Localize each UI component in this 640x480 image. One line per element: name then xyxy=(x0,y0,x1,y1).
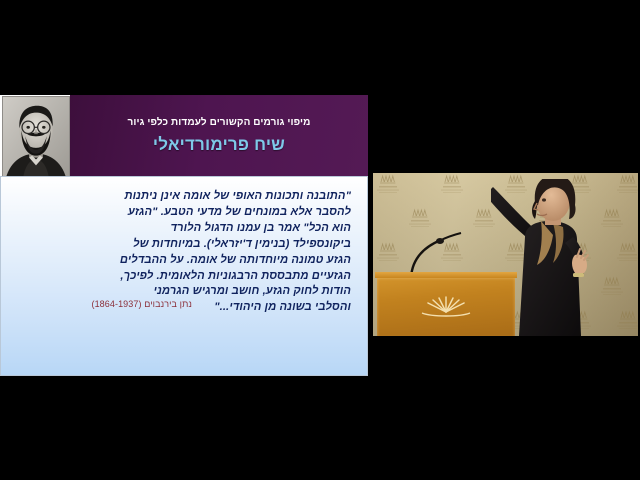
quote-line: "התובנה ותכונות האופי של אומה אינן ניתנו… xyxy=(19,189,351,205)
quote-line: הודות לחוק הגזע, חושב ומרגיש הגרמני xyxy=(19,284,351,300)
podium-emblem-icon xyxy=(418,296,474,323)
quote-text: "התובנה ותכונות האופי של אומה אינן ניתנו… xyxy=(19,189,351,316)
slide-content-area: "התובנה ותכונות האופי של אומה אינן ניתנו… xyxy=(0,176,368,376)
podium xyxy=(377,276,515,336)
video-mask-top xyxy=(373,95,638,173)
slide-header: מיפוי גורמים הקשורים לעמדות כלפי גיור שי… xyxy=(70,95,368,176)
quote-line: הגזעיים מתבססת הרבגוניות הלאומית. לפיכך, xyxy=(19,269,351,285)
quote-line: הגזע טמונה מיוחדותה של אומה. על ההבדלים xyxy=(19,253,351,269)
fan-emblem-icon xyxy=(418,296,474,318)
presentation-viewer: מיפוי גורמים הקשורים לעמדות כלפי גיור שי… xyxy=(0,0,640,480)
portrait-image xyxy=(3,97,69,183)
video-mask-bottom xyxy=(373,336,638,376)
speaker-video-panel[interactable] xyxy=(373,173,638,336)
letterbox-top xyxy=(0,0,640,95)
slide-subtitle: מיפוי גורמים הקשורים לעמדות כלפי גיור xyxy=(120,117,319,129)
podium-top-surface xyxy=(375,272,517,278)
slide-title: שיח פרימורדיאלי xyxy=(153,136,285,155)
quote-line: להסבר אלא במונחים של מדעי הטבע. "הגזע xyxy=(19,205,351,221)
quote-line: ביקונספילד (בנימין ד'יזראלי). במיוחדות ש… xyxy=(19,237,351,253)
portrait-photo xyxy=(2,96,70,184)
quote-line: הוא הכל" אמר בן עמנו הדגול הלורד xyxy=(19,221,351,237)
letterbox-bottom xyxy=(0,376,640,480)
quote-attribution: נתן בירנבוים (1864-1937) xyxy=(91,299,192,309)
slide-panel[interactable]: מיפוי גורמים הקשורים לעמדות כלפי גיור שי… xyxy=(0,95,368,376)
